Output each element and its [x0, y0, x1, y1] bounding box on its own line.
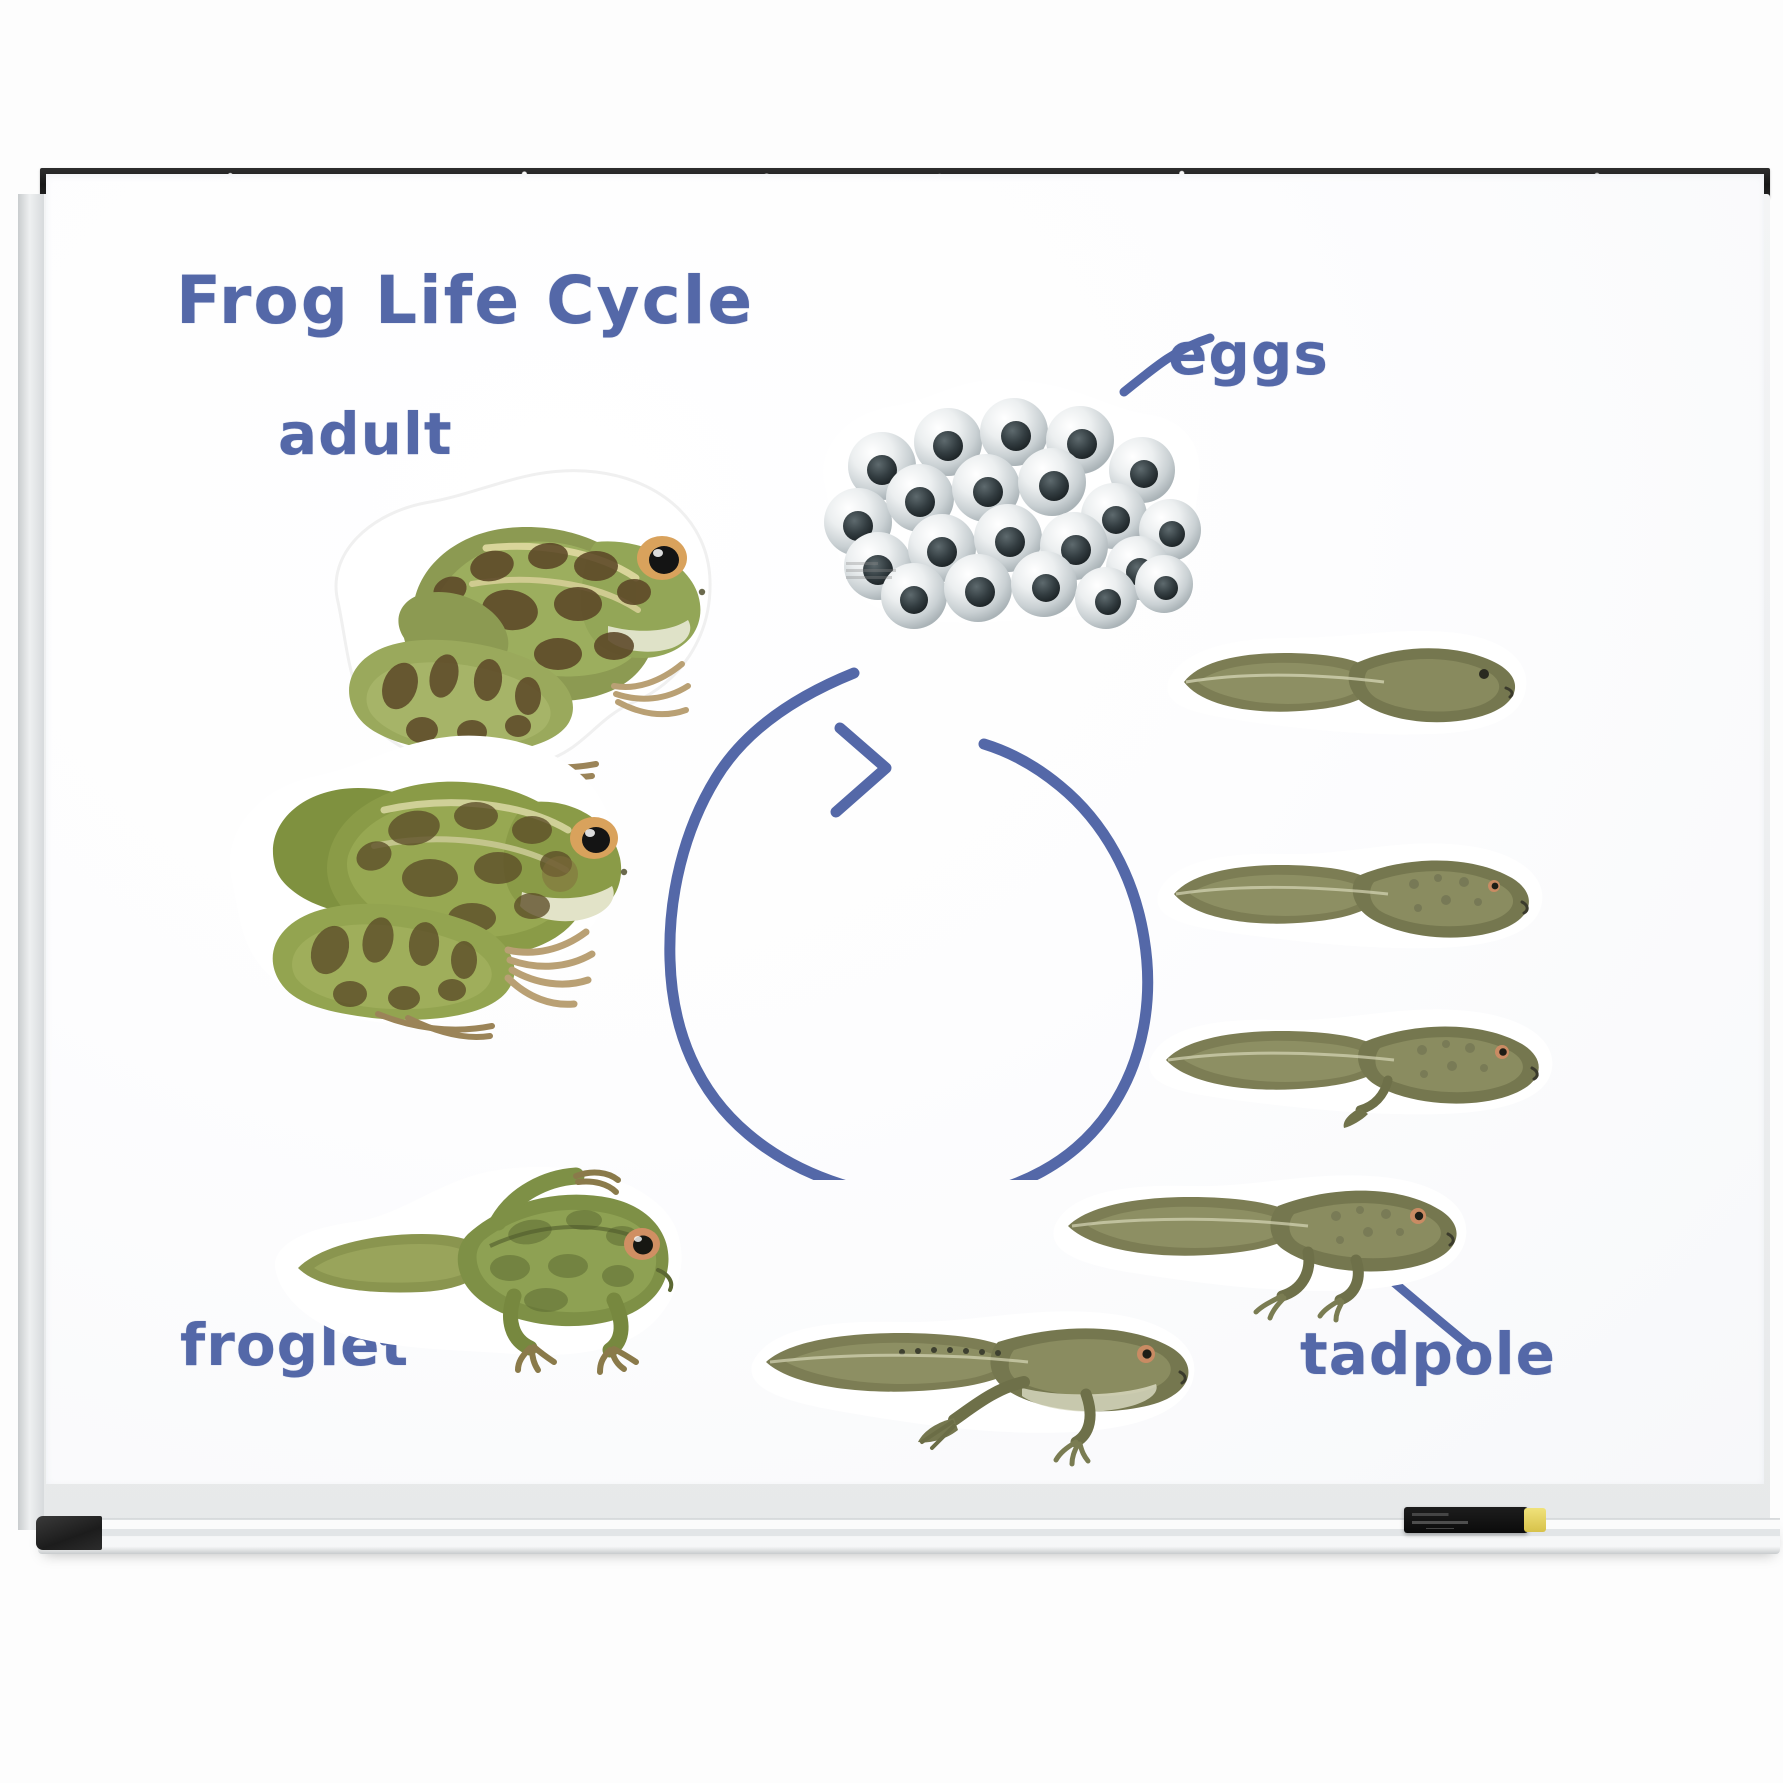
magnet-tadpole-2[interactable]: [1146, 820, 1556, 968]
label-tadpole: tadpole: [1300, 1320, 1556, 1388]
magnet-adult-frog-bottom[interactable]: [208, 706, 638, 1036]
magnet-tadpole-5[interactable]: [742, 1296, 1212, 1476]
tray-corner-cap: [36, 1516, 102, 1550]
eraser-print: [1412, 1511, 1520, 1529]
magnet-egg-cluster[interactable]: [808, 370, 1208, 632]
whiteboard-photo: Frog Life Cycle adult eggs froglet tadpo…: [0, 0, 1783, 1783]
magnet-tadpole-1[interactable]: [1158, 604, 1538, 754]
whiteboard-eraser[interactable]: [1404, 1507, 1528, 1533]
magnet-froglet[interactable]: [262, 1150, 692, 1380]
magnet-tadpole-3[interactable]: [1136, 988, 1566, 1138]
page-title: Frog Life Cycle: [176, 262, 754, 339]
